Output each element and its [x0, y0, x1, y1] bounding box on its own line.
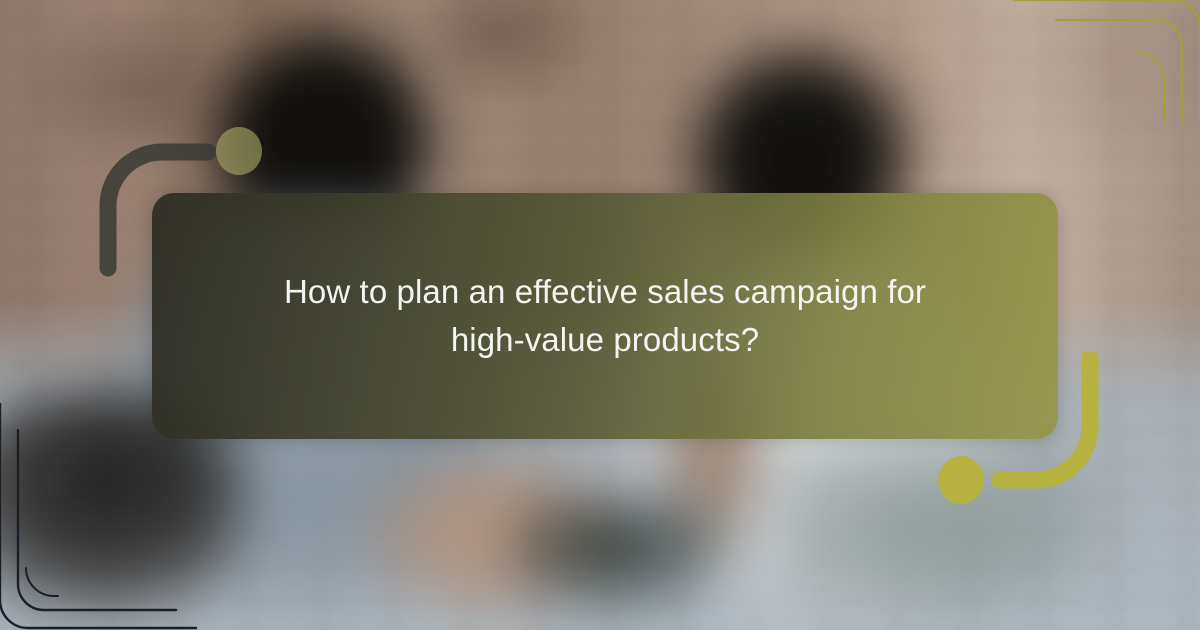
headline-card: How to plan an effective sales campaign … — [152, 193, 1058, 439]
page-title: How to plan an effective sales campaign … — [225, 268, 985, 364]
social-card-canvas: How to plan an effective sales campaign … — [0, 0, 1200, 630]
right-desk-shape — [780, 440, 1110, 620]
laptop-shape — [500, 500, 730, 610]
